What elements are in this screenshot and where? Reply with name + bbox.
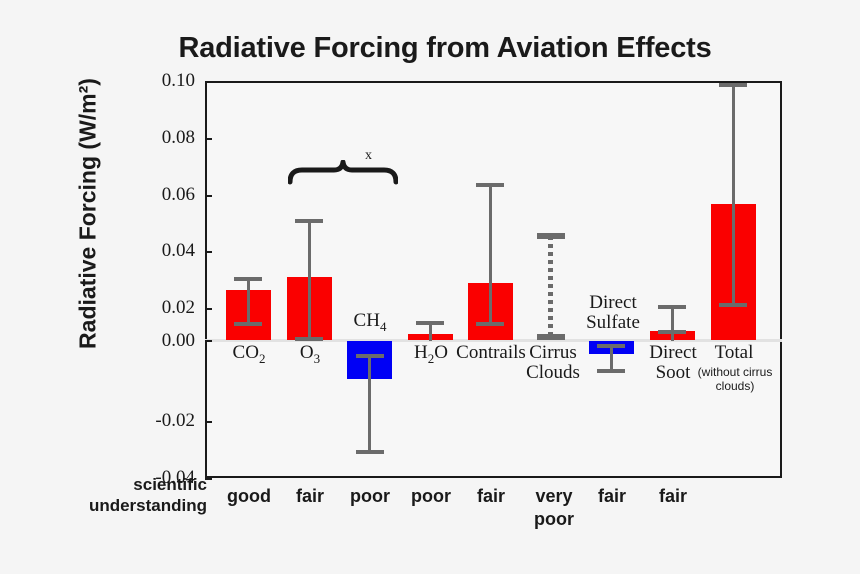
- brace-annotation: [288, 160, 398, 190]
- error-cap-direct-sulfate-high: [597, 344, 625, 348]
- error-bar-co2: [247, 277, 250, 326]
- bar-label-total: Total: [693, 343, 775, 363]
- y-tick-0.06: 0.06: [133, 184, 195, 206]
- error-cap-direct-sulfate-low: [597, 369, 625, 373]
- bar-label-total-text: Total: [715, 342, 754, 363]
- y-tick-mark: [205, 340, 212, 342]
- y-tick-mark: [205, 195, 212, 197]
- bar-label-ch4-sub: 4: [380, 319, 387, 334]
- brace-marker-x: x: [365, 148, 372, 164]
- su-item-soot: fair: [633, 485, 713, 508]
- chart-title: Radiative Forcing from Aviation Effects: [0, 32, 860, 65]
- error-cap-total-low: [719, 303, 747, 307]
- range-cap-cirrus-high: [537, 233, 565, 239]
- bar-label-h2o-text-a: H: [414, 342, 428, 363]
- y-tick-mark: [205, 308, 212, 310]
- y-tick-0.04: 0.04: [133, 240, 195, 262]
- error-cap-h2o-high: [416, 321, 444, 325]
- bar-label-cirrus-line2: Clouds: [526, 362, 580, 383]
- error-cap-direct-soot-high: [658, 305, 686, 309]
- bar-label-co2-text: CO: [233, 342, 259, 363]
- y-tick-0.02: 0.02: [133, 297, 195, 319]
- error-cap-direct-soot-low: [658, 330, 686, 334]
- bar-sublabel-total-line2: clouds): [716, 379, 755, 393]
- bar-label-o3: O3: [270, 343, 350, 365]
- bar-label-o3-sub: 3: [314, 351, 321, 366]
- error-cap-o3-low: [295, 337, 323, 341]
- error-bar-contrails: [489, 183, 492, 326]
- error-cap-contrails-high: [476, 183, 504, 187]
- y-tick-0.10: 0.10: [133, 70, 195, 92]
- range-cap-cirrus-low: [537, 334, 565, 340]
- error-bar-ch4: [368, 354, 371, 453]
- y-tick--0.02: -0.02: [133, 410, 195, 432]
- error-bar-o3: [308, 219, 311, 341]
- bar-label-cirrus: Cirrus Clouds: [513, 343, 593, 383]
- error-cap-ch4-low: [356, 450, 384, 454]
- bar-label-direct-soot-line2: Soot: [656, 362, 691, 383]
- error-bar-direct-soot: [671, 305, 674, 341]
- bar-label-cirrus-line1: Cirrus: [529, 342, 577, 363]
- bar-sublabel-total-line1: (without cirrus: [698, 365, 773, 379]
- bar-label-direct-sulfate: Direct Sulfate: [572, 293, 654, 333]
- bar-label-o3-text: O: [300, 342, 314, 363]
- bar-label-direct-sulfate-line1: Direct: [589, 292, 636, 313]
- range-line-cirrus: [548, 236, 553, 340]
- y-tick-mark: [205, 421, 212, 423]
- bar-label-ch4-text: CH: [354, 310, 380, 331]
- error-cap-co2-high: [234, 277, 262, 281]
- scientific-understanding-label: scientific understanding: [0, 474, 207, 517]
- bar-label-direct-sulfate-line2: Sulfate: [586, 312, 640, 333]
- y-axis-label: Radiative Forcing (W/m²): [75, 64, 102, 364]
- su-title-line1: scientific: [133, 475, 207, 494]
- su-title-line2: understanding: [89, 496, 207, 515]
- y-tick-0.00: 0.00: [133, 330, 195, 352]
- bar-label-ch4: CH4: [330, 311, 410, 333]
- bar-label-direct-soot-line1: Direct: [649, 342, 696, 363]
- error-cap-contrails-low: [476, 322, 504, 326]
- y-tick-mark: [205, 251, 212, 253]
- bar-label-co2-sub: 2: [259, 351, 266, 366]
- bar-sublabel-total: (without cirrus clouds): [688, 366, 782, 394]
- chart-canvas: Radiative Forcing from Aviation Effects …: [0, 0, 860, 574]
- error-cap-o3-high: [295, 219, 323, 223]
- error-cap-co2-low: [234, 322, 262, 326]
- error-bar-total: [732, 83, 735, 307]
- y-tick-mark: [205, 138, 212, 140]
- y-tick-0.08: 0.08: [133, 127, 195, 149]
- error-cap-total-high: [719, 83, 747, 87]
- error-cap-ch4-high: [356, 354, 384, 358]
